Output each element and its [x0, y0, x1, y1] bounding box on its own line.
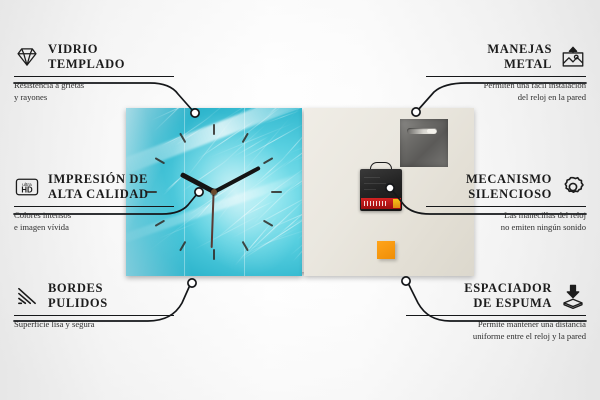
picture-hanger-icon — [560, 44, 586, 70]
polished-edges-icon — [14, 283, 40, 309]
clock-center-cap — [211, 189, 217, 195]
clock-hand-minute — [213, 166, 261, 194]
feature-header: ultra HD IMPRESIÓN DE ALTA CALIDAD — [14, 172, 174, 202]
clock-tick — [271, 191, 282, 193]
svg-text:HD: HD — [21, 185, 33, 194]
feature-title: VIDRIO TEMPLADO — [48, 42, 125, 72]
feature-rule — [426, 206, 586, 208]
hanger-keyhole-slot — [407, 128, 437, 134]
feature-bordes-pulidos: BORDES PULIDOS Superficie lisa y segura — [14, 281, 174, 331]
clock-tick — [213, 249, 215, 260]
movement-battery — [393, 199, 400, 208]
infographic-canvas: VIDRIO TEMPLADO Resistencia a grietas y … — [0, 0, 600, 400]
clock-tick — [263, 220, 274, 227]
clock-tick — [213, 124, 215, 135]
clock-hand-hour — [179, 172, 215, 194]
feature-rule — [14, 315, 174, 317]
clock-tick — [242, 241, 249, 252]
feature-rule — [406, 315, 586, 317]
feature-desc-1: Permiten una fácil instalación — [426, 80, 586, 92]
clock-tick — [242, 133, 249, 144]
feature-desc-2: e imagen vívida — [14, 222, 174, 234]
foam-spacer — [377, 241, 395, 259]
feature-desc-1: Las manecillas del reloj — [426, 210, 586, 222]
feature-impresion-alta-calidad: ultra HD IMPRESIÓN DE ALTA CALIDAD Color… — [14, 172, 174, 233]
clock-tick — [263, 157, 274, 164]
movement-detail-line-3 — [364, 189, 376, 190]
feature-rule — [426, 76, 586, 78]
feature-title: MANEJAS METAL — [487, 42, 552, 72]
movement-detail-line-2 — [364, 183, 386, 184]
feature-mecanismo-silencioso: MECANISMO SILENCIOSO Las manecillas del … — [426, 172, 586, 233]
feature-desc-2: del reloj en la pared — [426, 92, 586, 104]
diamond-icon — [14, 44, 40, 70]
movement-housing — [360, 169, 402, 211]
feature-desc-1: Permite mantener una distancia — [406, 319, 586, 331]
foam-spacer-icon — [560, 283, 586, 309]
clock-tick — [179, 241, 186, 252]
feature-header: VIDRIO TEMPLADO — [14, 42, 174, 72]
product-image — [126, 108, 474, 276]
ultra-hd-icon: ultra HD — [14, 174, 40, 200]
clock-hand-second — [211, 192, 215, 248]
feature-header: BORDES PULIDOS — [14, 281, 174, 311]
feature-vidrio-templado: VIDRIO TEMPLADO Resistencia a grietas y … — [14, 42, 174, 103]
feature-title: MECANISMO SILENCIOSO — [466, 172, 552, 202]
feature-desc-1: Colores intensos — [14, 210, 174, 222]
feature-title: ESPACIADOR DE ESPUMA — [464, 281, 552, 311]
feature-espaciador-de-espuma: ESPACIADOR DE ESPUMA Permite mantener un… — [406, 281, 586, 342]
feature-desc-1: Superficie lisa y segura — [14, 319, 174, 331]
feature-header: MANEJAS METAL — [426, 42, 586, 72]
clock-tick — [155, 157, 166, 164]
clock-tick — [179, 133, 186, 144]
feature-rule — [14, 76, 174, 78]
feature-title: BORDES PULIDOS — [48, 281, 108, 311]
feature-desc-1: Resistencia a grietas — [14, 80, 174, 92]
feature-header: ESPACIADOR DE ESPUMA — [406, 281, 586, 311]
feature-manejas-metal: MANEJAS METAL Permiten una fácil instala… — [426, 42, 586, 103]
metal-hanger-plate — [400, 119, 448, 167]
gear-icon — [560, 174, 586, 200]
feature-title: IMPRESIÓN DE ALTA CALIDAD — [48, 172, 149, 202]
feature-desc-2: y rayones — [14, 92, 174, 104]
feature-desc-2: uniforme entre el reloj y la pared — [406, 331, 586, 343]
feature-header: MECANISMO SILENCIOSO — [426, 172, 586, 202]
movement-detail-line-1 — [364, 177, 380, 178]
feature-desc-2: no emiten ningún sonido — [426, 222, 586, 234]
quartz-movement-box — [360, 169, 402, 211]
feature-rule — [14, 206, 174, 208]
